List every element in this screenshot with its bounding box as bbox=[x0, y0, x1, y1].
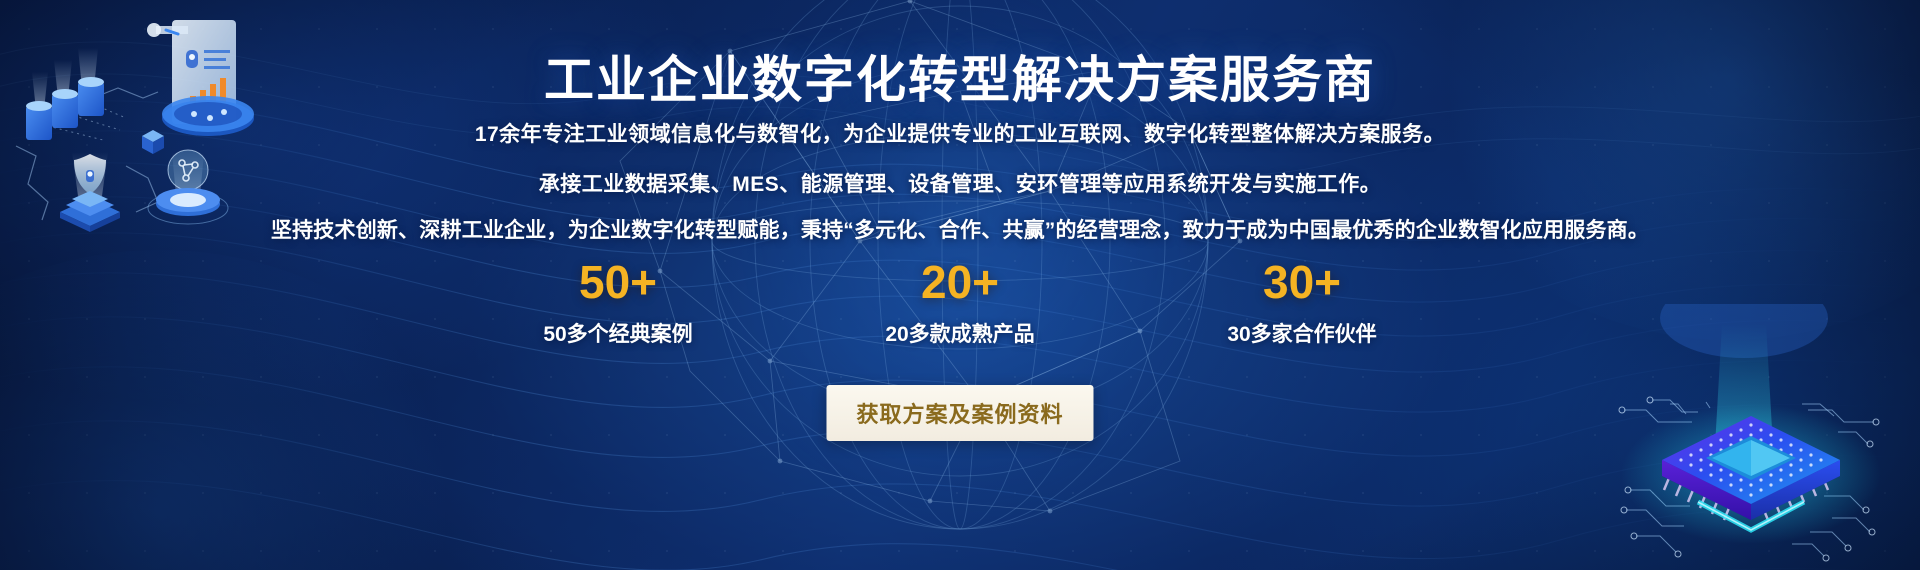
hero-banner: 工业企业数字化转型解决方案服务商 17余年专注工业领域信息化与数智化，为企业提供… bbox=[0, 0, 1920, 570]
stat-label: 50多个经典案例 bbox=[513, 318, 723, 348]
stat-number: 20+ bbox=[855, 258, 1065, 306]
subtitle-line-3: 坚持技术创新、深耕工业企业，为企业数字化转型赋能，秉持“多元化、合作、共赢”的经… bbox=[0, 214, 1920, 244]
stat-number: 50+ bbox=[513, 258, 723, 306]
stat-label: 30多家合作伙伴 bbox=[1197, 318, 1407, 348]
stat-item-cases: 50+ 50多个经典案例 bbox=[513, 258, 723, 348]
banner-content: 工业企业数字化转型解决方案服务商 17余年专注工业领域信息化与数智化，为企业提供… bbox=[0, 0, 1920, 570]
stat-label: 20多款成熟产品 bbox=[855, 318, 1065, 348]
stat-number: 30+ bbox=[1197, 258, 1407, 306]
stat-item-products: 20+ 20多款成熟产品 bbox=[855, 258, 1065, 348]
stats-row: 50+ 50多个经典案例 20+ 20多款成熟产品 30+ 30多家合作伙伴 bbox=[513, 258, 1407, 348]
get-solution-materials-button[interactable]: 获取方案及案例资料 bbox=[826, 385, 1093, 441]
stat-item-partners: 30+ 30多家合作伙伴 bbox=[1197, 258, 1407, 348]
subtitle-line-1: 17余年专注工业领域信息化与数智化，为企业提供专业的工业互联网、数字化转型整体解… bbox=[0, 118, 1920, 148]
subtitle-line-2: 承接工业数据采集、MES、能源管理、设备管理、安环管理等应用系统开发与实施工作。 bbox=[0, 168, 1920, 198]
page-title: 工业企业数字化转型解决方案服务商 bbox=[0, 40, 1920, 112]
